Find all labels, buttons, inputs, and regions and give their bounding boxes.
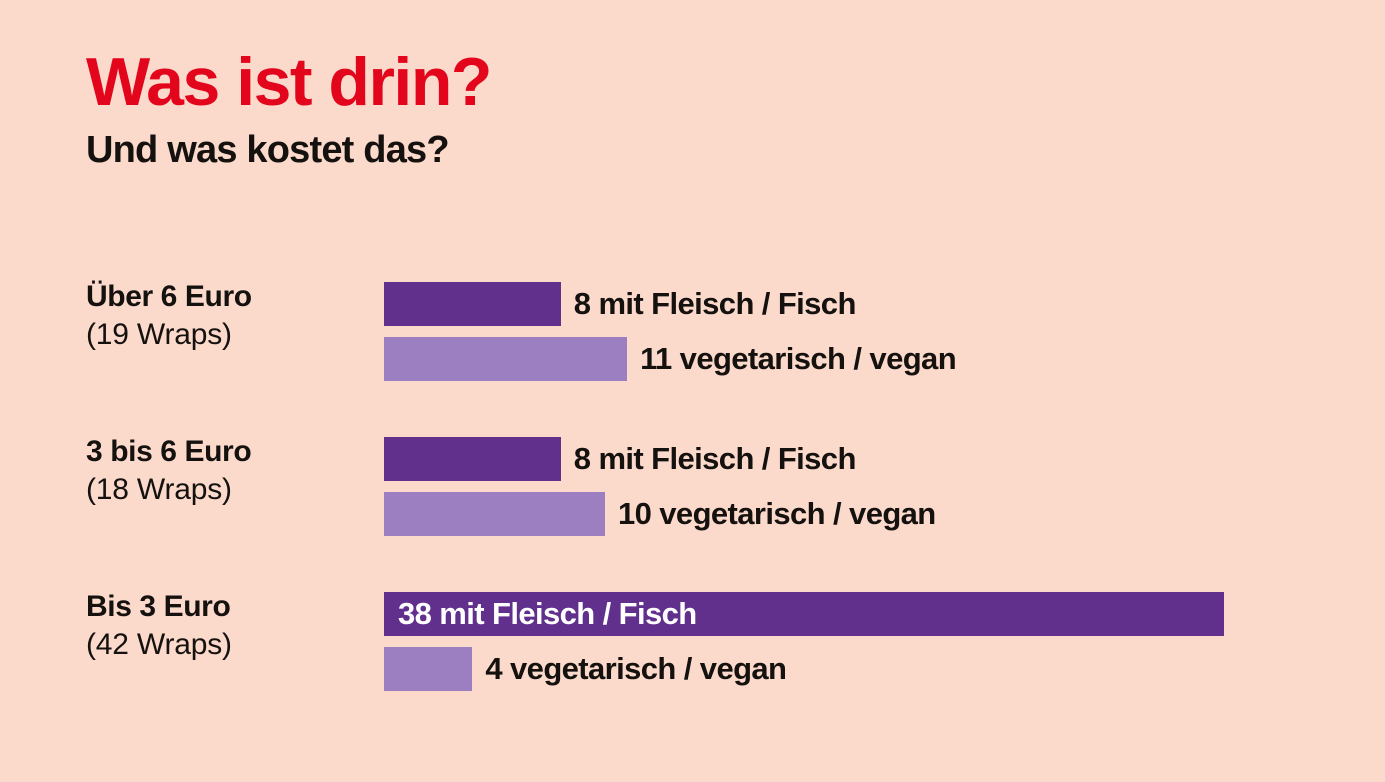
bar-value-label: 8 mit Fleisch / Fisch [574, 282, 856, 326]
bar-row: 8 mit Fleisch / Fisch [384, 282, 1385, 326]
chart-plot-area: Über 6 Euro (19 Wraps) 8 mit Fleisch / F… [0, 262, 1385, 727]
bar-stack: 8 mit Fleisch / Fisch 11 vegetarisch / v… [384, 282, 1385, 392]
category-count: (18 Wraps) [86, 471, 366, 509]
infographic-canvas: Was ist drin? Und was kostet das? Über 6… [0, 0, 1385, 782]
bar-group: Bis 3 Euro (42 Wraps) 38 mit Fleisch / F… [0, 572, 1385, 727]
category-label: 3 bis 6 Euro (18 Wraps) [86, 435, 366, 509]
category-count: (19 Wraps) [86, 316, 366, 354]
bar-value-label: 4 vegetarisch / vegan [485, 647, 786, 691]
bar-value-label: 11 vegetarisch / vegan [640, 337, 956, 381]
bar-group: Über 6 Euro (19 Wraps) 8 mit Fleisch / F… [0, 262, 1385, 417]
bar-stack: 8 mit Fleisch / Fisch 10 vegetarisch / v… [384, 437, 1385, 547]
category-name: 3 bis 6 Euro [86, 435, 366, 468]
bar-stack: 38 mit Fleisch / Fisch 4 vegetarisch / v… [384, 592, 1385, 702]
bar-veg [384, 337, 627, 381]
bar-veg [384, 647, 472, 691]
bar-group: 3 bis 6 Euro (18 Wraps) 8 mit Fleisch / … [0, 417, 1385, 572]
category-label: Über 6 Euro (19 Wraps) [86, 280, 366, 354]
bar-value-label: 8 mit Fleisch / Fisch [574, 437, 856, 481]
bar-row: 11 vegetarisch / vegan [384, 337, 1385, 381]
category-label: Bis 3 Euro (42 Wraps) [86, 590, 366, 664]
category-name: Über 6 Euro [86, 280, 366, 313]
category-name: Bis 3 Euro [86, 590, 366, 623]
title-block: Was ist drin? Und was kostet das? [86, 48, 491, 171]
bar-row: 10 vegetarisch / vegan [384, 492, 1385, 536]
bar-row: 4 vegetarisch / vegan [384, 647, 1385, 691]
bar-value-label: 10 vegetarisch / vegan [618, 492, 936, 536]
bar-veg [384, 492, 605, 536]
page-title: Was ist drin? [86, 48, 491, 117]
bar-meat [384, 282, 561, 326]
page-subtitle: Und was kostet das? [86, 131, 491, 171]
bar-meat: 38 mit Fleisch / Fisch [384, 592, 1224, 636]
bar-row: 38 mit Fleisch / Fisch [384, 592, 1385, 636]
category-count: (42 Wraps) [86, 626, 366, 664]
bar-row: 8 mit Fleisch / Fisch [384, 437, 1385, 481]
bar-meat [384, 437, 561, 481]
bar-value-label: 38 mit Fleisch / Fisch [398, 592, 697, 636]
